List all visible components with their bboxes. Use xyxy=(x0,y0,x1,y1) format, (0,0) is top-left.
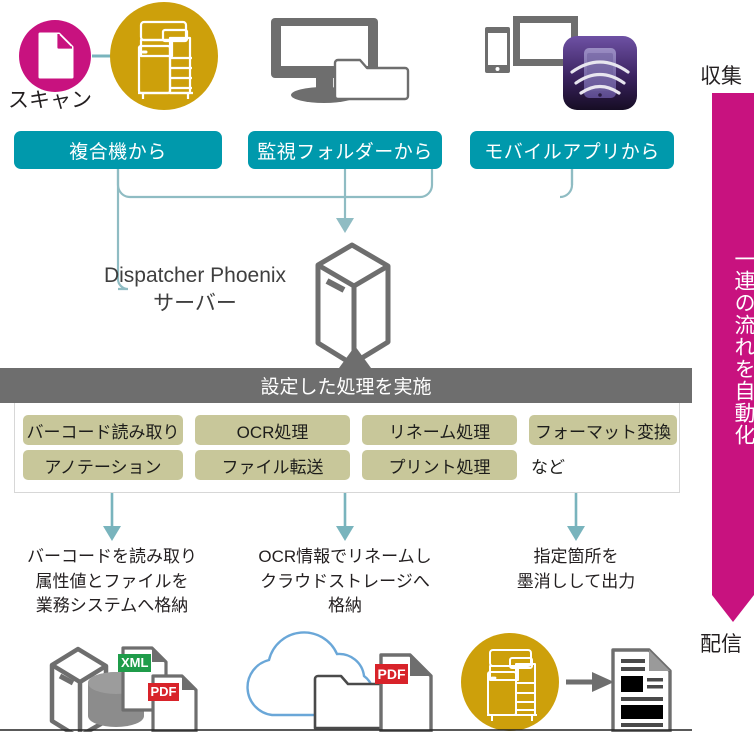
mfp-circle-icon xyxy=(461,633,559,731)
diagram-canvas xyxy=(0,0,754,732)
merge-arrow-head xyxy=(336,218,354,233)
process-etc-label: など xyxy=(531,450,565,480)
process-tag-barcode[interactable]: バーコード読み取り xyxy=(23,415,183,445)
output-description-1: バーコードを読み取り 属性値とファイルを 業務システムへ格納 xyxy=(8,545,216,619)
source-chip-watched-folder[interactable]: 監視フォルダーから xyxy=(248,131,442,169)
source-chip-watched-folder-label: 監視フォルダーから xyxy=(257,137,433,164)
banner-bottom-caption: 配信 xyxy=(700,628,742,658)
redacted-document-icon xyxy=(613,650,670,732)
server-name-line2: サーバー xyxy=(80,290,310,318)
multifunction-printer-icon xyxy=(110,2,218,110)
process-tag-annotation[interactable]: アノテーション xyxy=(23,450,183,480)
output-description-2: OCR情報でリネームし クラウドストレージへ 格納 xyxy=(240,545,450,619)
pdf-badge-label-2: PDF xyxy=(377,666,406,682)
source-chip-mfp[interactable]: 複合機から xyxy=(14,131,222,169)
source-chip-mobile-app-label: モバイルアプリから xyxy=(484,137,660,164)
document-scan-icon xyxy=(19,20,91,92)
server-name: Dispatcher Phoenix サーバー xyxy=(80,262,310,319)
process-header-bar: 設定した処理を実施 xyxy=(0,368,692,403)
monitor-folder-icon xyxy=(271,18,408,103)
process-tag-format-convert[interactable]: フォーマット変換 xyxy=(529,415,677,445)
process-tag-file-transfer[interactable]: ファイル転送 xyxy=(195,450,350,480)
source-chip-mfp-label: 複合機から xyxy=(69,137,167,164)
pdf-badge-label-1: PDF xyxy=(150,684,177,699)
scan-label: スキャン xyxy=(8,88,92,114)
arrow-right-icon xyxy=(566,672,614,692)
chip-connectors xyxy=(118,169,572,222)
output-arrows xyxy=(103,492,585,541)
mobile-app-icon xyxy=(485,16,637,110)
banner-vertical-text: 一連の流れを自動化 xyxy=(710,248,754,508)
xml-badge-label: XML xyxy=(121,655,148,670)
server-name-line1: Dispatcher Phoenix xyxy=(80,262,310,290)
process-panel: バーコード読み取り OCR処理 リネーム処理 フォーマット変換 アノテーション … xyxy=(14,403,680,493)
source-chip-mobile-app[interactable]: モバイルアプリから xyxy=(470,131,674,169)
output-description-3: 指定箇所を 墨消しして出力 xyxy=(478,545,674,594)
process-tag-print[interactable]: プリント処理 xyxy=(362,450,517,480)
process-header-label: 設定した処理を実施 xyxy=(0,368,692,403)
server-tower-icon xyxy=(318,245,388,364)
banner-top-caption: 収集 xyxy=(700,60,742,90)
process-tag-rename[interactable]: リネーム処理 xyxy=(362,415,517,445)
process-tag-ocr[interactable]: OCR処理 xyxy=(195,415,350,445)
